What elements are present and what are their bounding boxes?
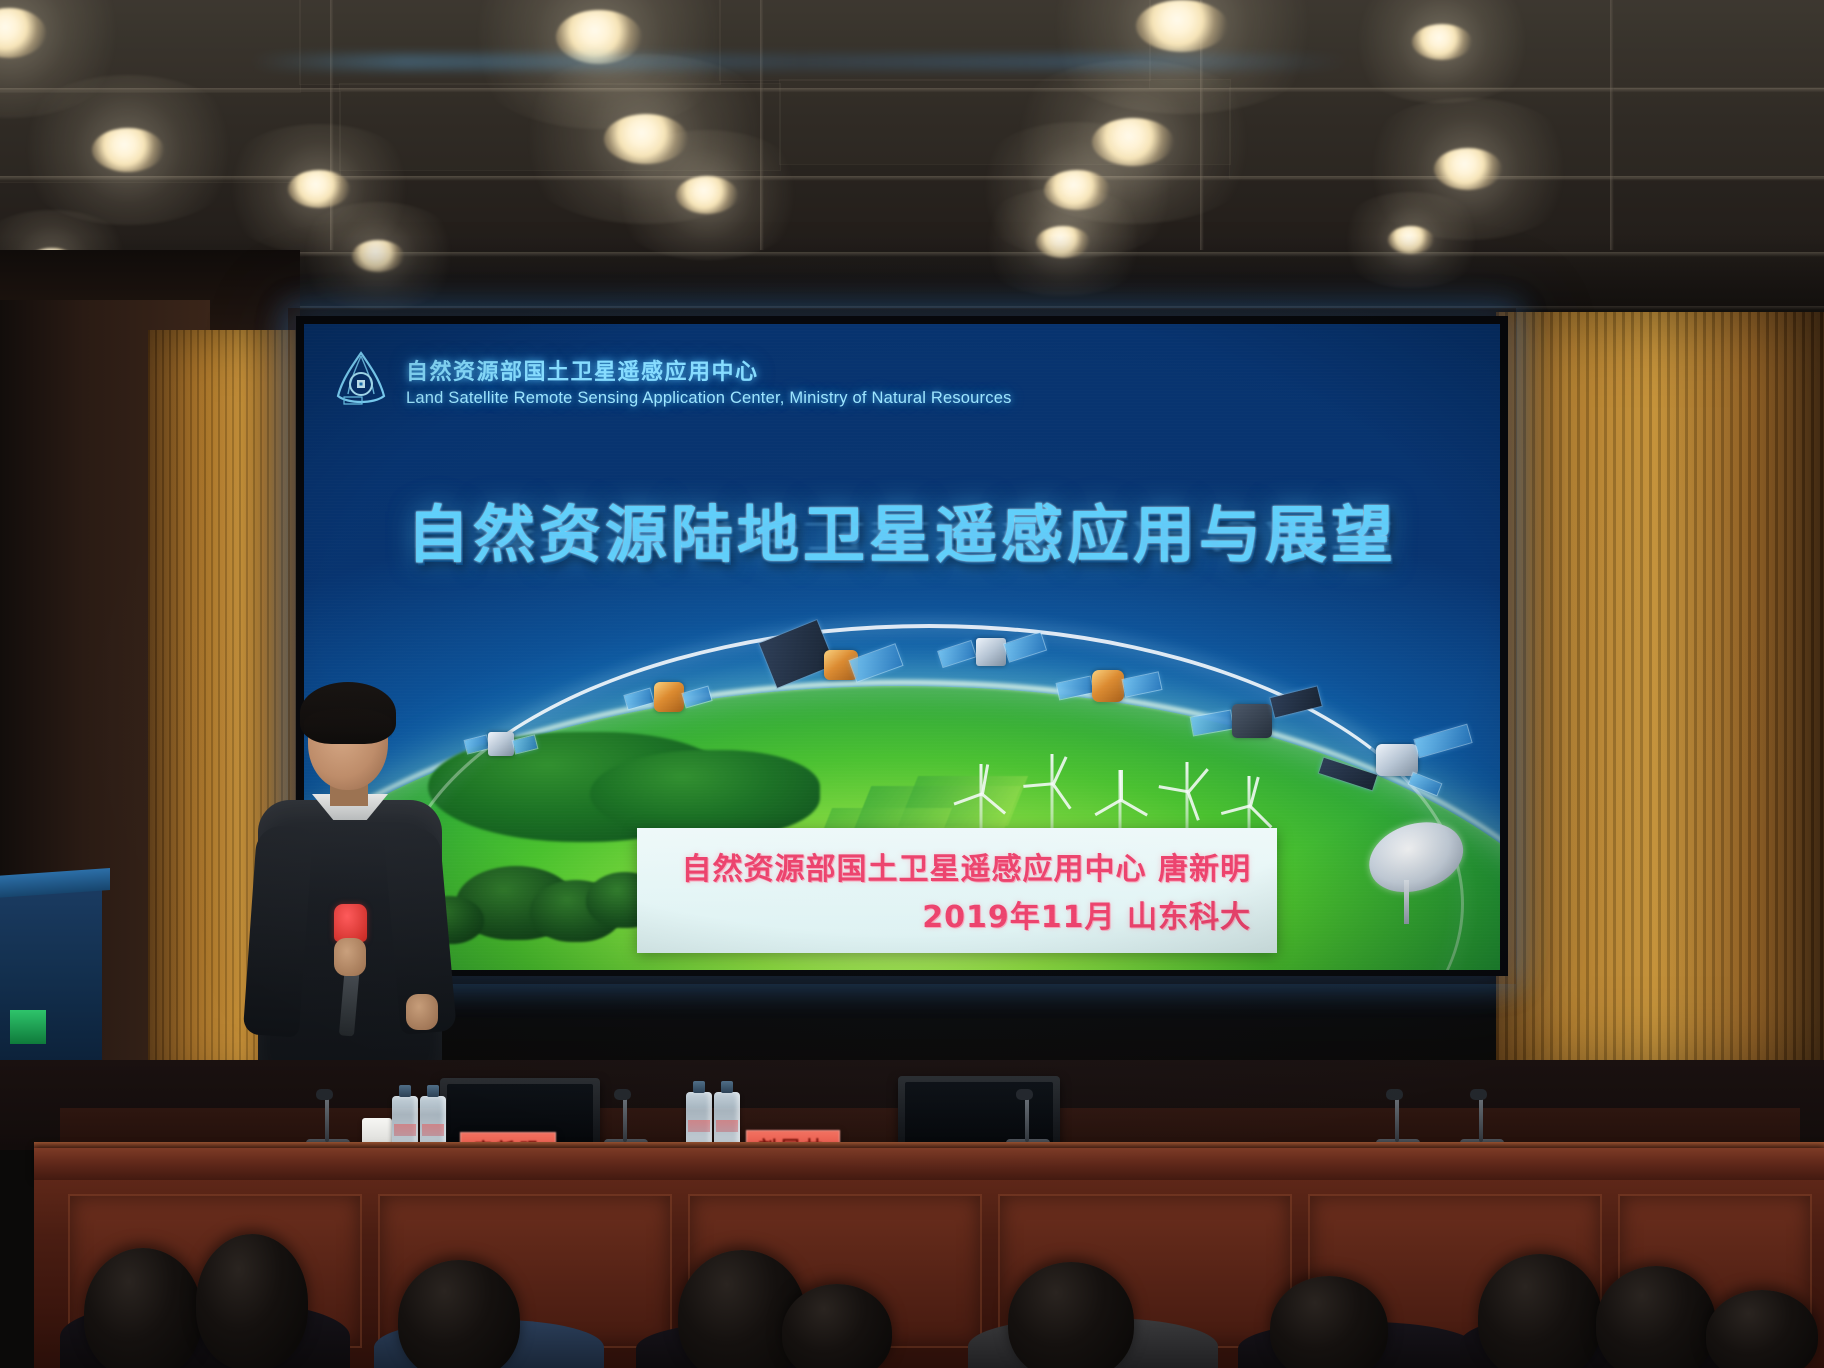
slide-caption-box: 自然资源部国土卫星遥感应用中心 唐新明 2019年11月 山东科大 — [637, 828, 1277, 953]
audience-head — [1008, 1262, 1134, 1368]
presenter-hand-right — [406, 994, 438, 1030]
ceiling-light — [288, 170, 350, 208]
side-podium — [0, 880, 102, 1080]
slide-org-name-cn: 自然资源部国土卫星遥感应用中心 — [406, 354, 1012, 386]
presenter-hand-left — [334, 938, 366, 976]
presentation-screen: 自然资源部国土卫星遥感应用中心 Land Satellite Remote Se… — [296, 316, 1508, 976]
satellite — [630, 674, 708, 728]
dish-mast — [1404, 880, 1409, 924]
slide-header: 自然资源部国土卫星遥感应用中心 Land Satellite Remote Se… — [330, 350, 1012, 412]
ceiling-light — [676, 176, 738, 214]
presenter-hair — [300, 682, 396, 744]
caption-line-1: 自然资源部国土卫星遥感应用中心 唐新明 — [682, 844, 1251, 888]
presenter — [250, 676, 450, 1068]
audience-head — [196, 1234, 308, 1368]
handheld-microphone-head — [334, 904, 367, 942]
ceiling-light — [1136, 0, 1228, 52]
satellite — [472, 724, 536, 768]
wood-panel-right — [1496, 312, 1824, 1072]
audience-head — [398, 1260, 520, 1368]
satellite — [1332, 728, 1472, 814]
slide-surface: 自然资源部国土卫星遥感应用中心 Land Satellite Remote Se… — [304, 324, 1500, 970]
audience-head — [84, 1248, 202, 1368]
ceiling-light — [92, 128, 164, 172]
ceiling-light — [1412, 24, 1472, 60]
satellite — [1064, 662, 1160, 722]
ceiling-light — [0, 8, 46, 58]
stage-desk-top — [34, 1148, 1824, 1182]
lecture-hall-photo: 自然资源部国土卫星遥感应用中心 Land Satellite Remote Se… — [0, 0, 1824, 1368]
satellite — [944, 630, 1040, 686]
slide-title-reflection: 自然资源陆地卫星遥感应用与展望 — [304, 515, 1500, 562]
satellite-center-logo-icon — [330, 350, 392, 412]
ceiling-light — [1434, 148, 1502, 190]
slide-org-name-en: Land Satellite Remote Sensing Applicatio… — [406, 389, 1012, 408]
satellite — [766, 626, 898, 712]
podium-green-marker — [10, 1010, 46, 1044]
audience-head — [1596, 1266, 1716, 1368]
caption-line-2: 2019年11月 山东科大 — [922, 892, 1251, 936]
audience-head — [1478, 1254, 1602, 1368]
satellite — [1196, 692, 1320, 764]
